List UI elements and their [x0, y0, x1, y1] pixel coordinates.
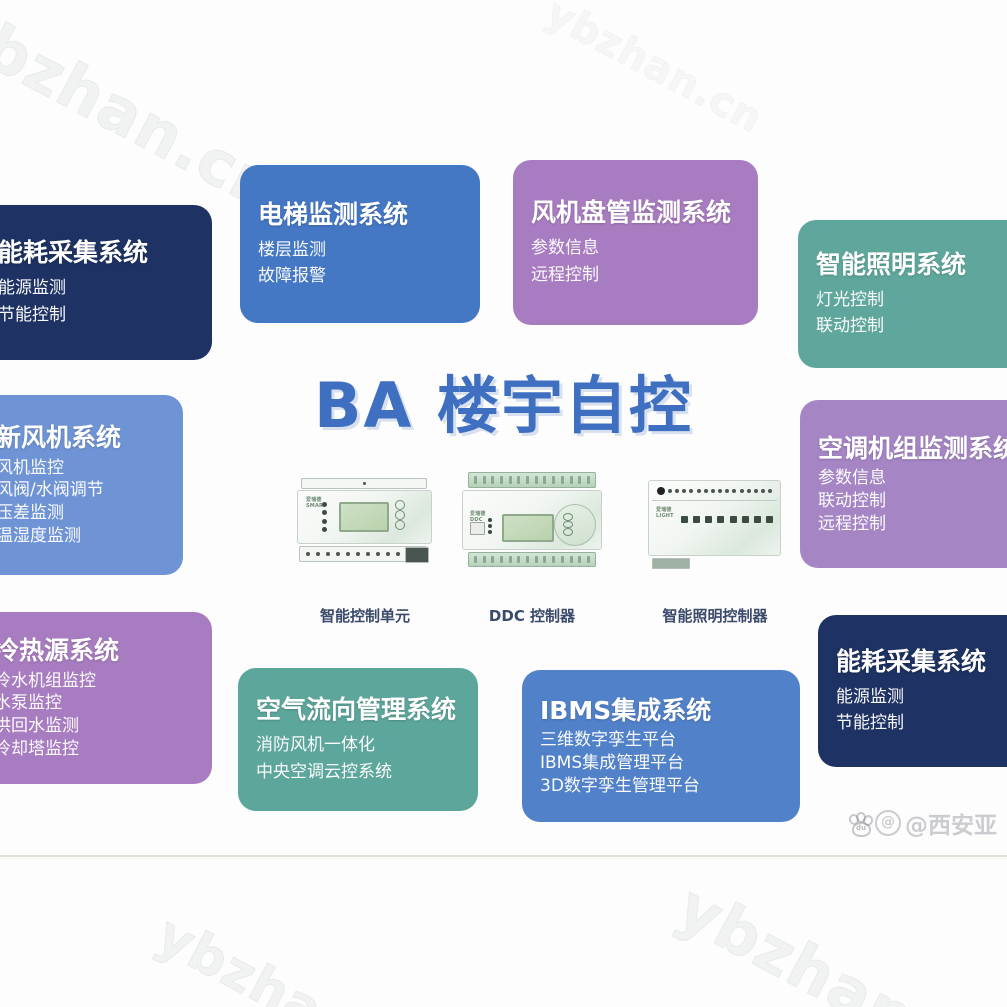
- card-title: IBMS集成系统: [540, 695, 782, 726]
- card-ibms-integration[interactable]: IBMS集成系统 三维数字孪生平台 IBMS集成管理平台 3D数字孪生管理平台: [522, 670, 800, 822]
- card-subitem: 压差监测: [0, 502, 165, 525]
- baidu-handle: @西安亚: [905, 806, 997, 840]
- bottom-divider-shadow: [0, 858, 1007, 859]
- card-subitem: 故障报警: [258, 263, 462, 289]
- site-watermark: ybzhan.cn: [666, 870, 1007, 1007]
- card-subitem: 楼层监测: [258, 237, 462, 263]
- card-title: 空气流向管理系统: [256, 694, 460, 725]
- card-subitem: 节能控制: [836, 710, 1007, 736]
- card-subitem: 能源监测: [0, 275, 194, 301]
- card-energy-collection-right[interactable]: 能耗采集系统 能源监测 节能控制: [818, 615, 1007, 767]
- card-subitem: 水泵监控: [0, 692, 194, 715]
- card-subitem: 3D数字孪生管理平台: [540, 775, 782, 798]
- card-title: 能耗采集系统: [836, 646, 1007, 677]
- device-image-ddc-controller: 爱瑞德DDC: [462, 472, 602, 570]
- site-watermark: ybzhan.cn: [538, 0, 770, 143]
- card-subitem: 联动控制: [818, 490, 1007, 513]
- baidu-watermark: du @ @西安亚: [848, 806, 1007, 840]
- card-elevator-monitoring[interactable]: 电梯监测系统 楼层监测 故障报警: [240, 165, 480, 323]
- card-title: 电梯监测系统: [258, 199, 462, 230]
- card-subitem: 参数信息: [531, 235, 740, 261]
- card-title: 智能照明系统: [816, 249, 1007, 280]
- device-image-lighting-controller: 爱瑞德LIGHT: [648, 480, 781, 568]
- card-subitem: 中央空调云控系统: [256, 759, 460, 785]
- card-subitem: 风阀/水阀调节: [0, 479, 165, 502]
- card-subitem: 风机监控: [0, 457, 165, 480]
- card-subitem: IBMS集成管理平台: [540, 752, 782, 775]
- card-title: 能耗采集系统: [0, 237, 194, 268]
- device-label-ddc-controller: DDC 控制器: [432, 605, 632, 626]
- card-subitem: 温湿度监测: [0, 525, 165, 548]
- card-subitem: 参数信息: [818, 467, 1007, 490]
- card-title: 冷热源系统: [0, 635, 194, 666]
- card-title: 风机盘管监测系统: [531, 197, 740, 228]
- poster-canvas: ybzhan.cn ybzhan.cn ybzhan.cn ybzhan.cn …: [0, 0, 1007, 1007]
- card-subitem: 冷水机组监控: [0, 670, 194, 693]
- card-subitem: 三维数字孪生平台: [540, 729, 782, 752]
- bottom-divider: [0, 855, 1007, 857]
- card-subitem: 消防风机一体化: [256, 732, 460, 758]
- card-air-flow-management[interactable]: 空气流向管理系统 消防风机一体化 中央空调云控系统: [238, 668, 478, 811]
- card-subitem: 远程控制: [818, 513, 1007, 536]
- card-subitem: 供回水监测: [0, 715, 194, 738]
- card-cold-heat-source[interactable]: 冷热源系统 冷水机组监控 水泵监控 供回水监测 冷却塔监控: [0, 612, 212, 784]
- card-subitem: 冷却塔监控: [0, 738, 194, 761]
- device-label-lighting-controller: 智能照明控制器: [615, 605, 815, 626]
- site-watermark: ybzhan.cn: [147, 905, 446, 1007]
- card-smart-lighting[interactable]: 智能照明系统 灯光控制 联动控制: [798, 220, 1007, 368]
- card-subitem: 节能控制: [0, 302, 194, 328]
- card-subitem: 能源监测: [836, 684, 1007, 710]
- card-subitem: 远程控制: [531, 262, 740, 288]
- paw-icon: du: [848, 812, 871, 835]
- card-energy-collection-left[interactable]: 能耗采集系统 能源监测 节能控制: [0, 205, 212, 360]
- card-subitem: 联动控制: [816, 313, 1007, 339]
- device-image-smart-control-unit: 爱瑞德SMART: [297, 478, 432, 570]
- page-title: BA 楼宇自控: [0, 355, 1007, 445]
- at-icon: @: [875, 810, 901, 836]
- card-fan-coil-monitoring[interactable]: 风机盘管监测系统 参数信息 远程控制: [513, 160, 758, 325]
- card-subitem: 灯光控制: [816, 287, 1007, 313]
